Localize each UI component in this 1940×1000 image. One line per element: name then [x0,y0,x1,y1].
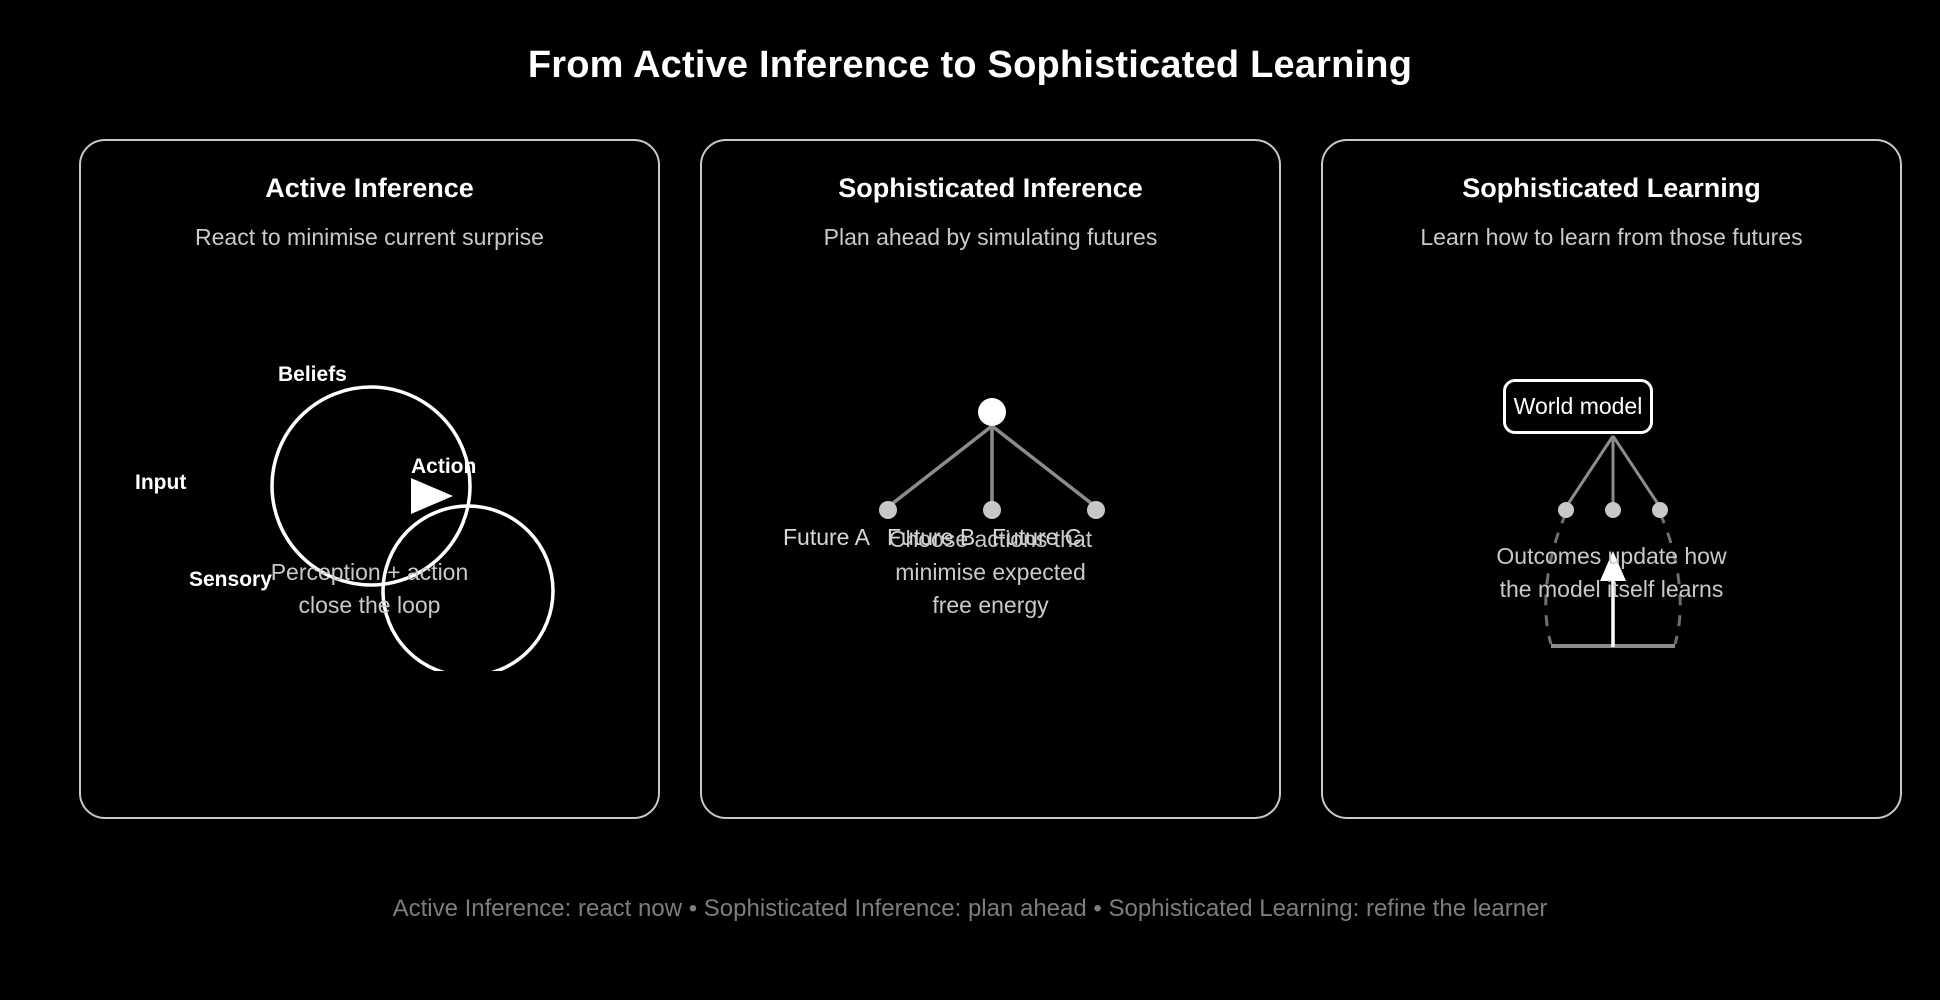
panels-row: Active Inference React to minimise curre… [79,139,1902,819]
outcome-node-left [1558,502,1574,518]
panel-subtitle-active-inference: React to minimise current surprise [81,224,658,251]
tree-leaf-node-b [983,501,1001,519]
model-edge-right [1613,436,1660,507]
panel-sophisticated-inference: Sophisticated Inference Plan ahead by si… [700,139,1281,819]
tree-root-node [978,398,1006,426]
venn-label-beliefs: Beliefs [278,363,347,387]
meta-learning-loop-svg [1323,251,1904,671]
panel-title-sophisticated-learning: Sophisticated Learning [1323,173,1900,204]
world-model-label: World model [1514,393,1643,420]
caption-line: Perception + action [81,556,658,589]
panel-subtitle-sophisticated-learning: Learn how to learn from those futures [1323,224,1900,251]
tree-leaf-node-a [879,501,897,519]
panel-caption-sophisticated-inference: Choose actions that minimise expected fr… [702,523,1279,622]
panel-subtitle-sophisticated-inference: Plan ahead by simulating futures [702,224,1279,251]
panel-active-inference: Active Inference React to minimise curre… [79,139,660,819]
meta-learning-loop-diagram: World model [1323,251,1904,671]
panel-caption-sophisticated-learning: Outcomes update how the model itself lea… [1323,540,1900,606]
caption-line: free energy [702,589,1279,622]
caption-line: the model itself learns [1323,573,1900,606]
page-title: From Active Inference to Sophisticated L… [0,44,1940,87]
venn-label-action: Action [411,455,476,479]
tree-edge-c [992,426,1096,507]
caption-line: Outcomes update how [1323,540,1900,573]
outcome-node-middle [1605,502,1621,518]
caption-line: minimise expected [702,556,1279,589]
panel-title-sophisticated-inference: Sophisticated Inference [702,173,1279,204]
tree-leaf-node-c [1087,501,1105,519]
footer-summary: Active Inference: react now • Sophistica… [0,895,1940,923]
tree-edge-a [888,426,992,507]
caption-line: Choose actions that [702,523,1279,556]
outcome-node-right [1652,502,1668,518]
venn-label-input: Input [135,471,186,495]
caption-line: close the loop [81,589,658,622]
world-model-box: World model [1503,379,1653,434]
panel-title-active-inference: Active Inference [81,173,658,204]
model-edge-left [1566,436,1613,507]
panel-caption-active-inference: Perception + action close the loop [81,556,658,622]
panel-sophisticated-learning: Sophisticated Learning Learn how to lear… [1321,139,1902,819]
